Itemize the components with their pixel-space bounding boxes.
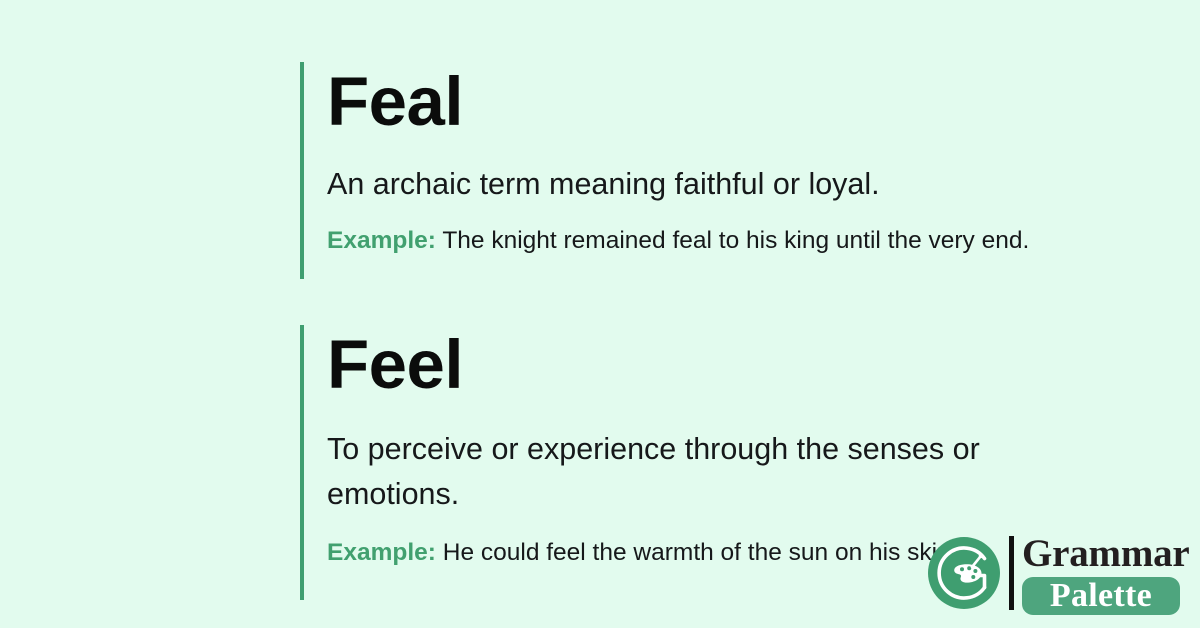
example-label: Example: (327, 539, 436, 566)
term-heading: Feel (327, 327, 1060, 403)
accent-bar (300, 62, 304, 279)
logo-brand-bottom: Palette (1050, 579, 1152, 613)
definition-text: To perceive or experience through the se… (327, 427, 1060, 517)
example-line: Example: The knight remained feal to his… (327, 224, 1060, 258)
logo-brand-top: Grammar (1022, 533, 1185, 575)
example-text: He could feel the warmth of the sun on h… (443, 539, 958, 566)
grammar-palette-logo-mark-icon (927, 536, 1001, 610)
brand-logo: Grammar Palette (927, 533, 1185, 613)
comparison-card: Feal An archaic term meaning faithful or… (0, 0, 1200, 628)
logo-divider (1009, 536, 1014, 610)
logo-wordmark: Grammar Palette (1022, 533, 1185, 613)
definition-text: An archaic term meaning faithful or loya… (327, 162, 1060, 207)
accent-bar (300, 325, 304, 600)
example-text: The knight remained feal to his king unt… (442, 227, 1029, 254)
term-heading: Feal (327, 64, 1060, 140)
example-label: Example: (327, 227, 436, 254)
definition-entry: Feal An archaic term meaning faithful or… (300, 62, 1060, 279)
logo-brand-badge: Palette (1022, 577, 1180, 615)
